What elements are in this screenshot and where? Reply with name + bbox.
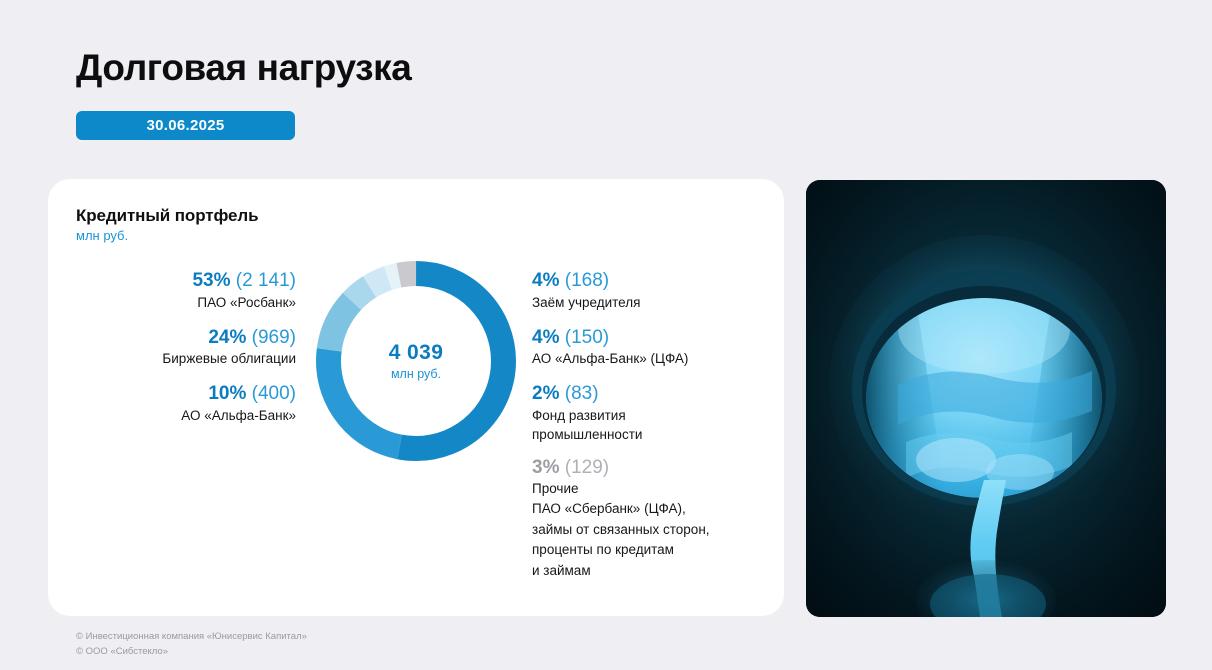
donut-chart: 4 039 млн руб. (316, 261, 516, 461)
legend-head: 2% (83) (532, 382, 772, 406)
legend-label-line2: промышленности (532, 426, 772, 444)
legend-item: 53% (2 141) ПАО «Росбанк» (48, 269, 296, 312)
legend-item: 24% (969) Биржевые облигации (48, 326, 296, 369)
card-title: Кредитный портфель (76, 206, 258, 226)
legend-percent: 4% (532, 270, 559, 291)
pool-highlight-a (916, 438, 996, 482)
legend-right: 4% (168) Заём учредителя 4% (150) АО «Ал… (532, 269, 772, 594)
legend-item: 10% (400) АО «Альфа-Банк» (48, 382, 296, 425)
legend-item: 4% (168) Заём учредителя (532, 269, 772, 312)
donut-chart-svg (316, 261, 516, 461)
legend-value: (2 141) (236, 270, 296, 291)
footer-line-2: © ООО «Сибстекло» (76, 645, 307, 660)
molten-glass-illustration (806, 180, 1166, 617)
footer-line-1: © Инвестиционная компания «Юнисервис Кап… (76, 630, 307, 645)
legend-label: АО «Альфа-Банк» (ЦФА) (532, 350, 772, 368)
legend-detail-line1: ПАО «Сбербанк» (ЦФА), (532, 499, 772, 519)
legend-percent: 3% (532, 457, 559, 478)
legend-head: 24% (969) (48, 326, 296, 350)
page-title: Долговая нагрузка (76, 48, 411, 89)
legend-value: (400) (252, 383, 296, 404)
legend-label: Биржевые облигации (48, 350, 296, 368)
legend-percent: 4% (532, 327, 559, 348)
legend-label: Прочие (532, 480, 772, 498)
legend-head: 3% (129) (532, 456, 772, 480)
legend-head: 10% (400) (48, 382, 296, 406)
legend-detail-line2: займы от связанных сторон, (532, 520, 772, 540)
legend-label: АО «Альфа-Банк» (48, 407, 296, 425)
date-badge: 30.06.2025 (76, 111, 295, 140)
legend-label: ПАО «Росбанк» (48, 294, 296, 312)
legend-head: 53% (2 141) (48, 269, 296, 293)
legend-detail-line3: проценты по кредитам (532, 540, 772, 560)
legend-percent: 24% (208, 327, 246, 348)
legend-left: 53% (2 141) ПАО «Росбанк» 24% (969) Бирж… (48, 269, 296, 439)
legend-value: (168) (565, 270, 609, 291)
legend-value: (150) (565, 327, 609, 348)
legend-head: 4% (168) (532, 269, 772, 293)
legend-value: (129) (565, 457, 609, 478)
legend-percent: 10% (208, 383, 246, 404)
card-subtitle: млн руб. (76, 228, 128, 243)
legend-percent: 2% (532, 383, 559, 404)
legend-detail-line4: и займам (532, 561, 772, 581)
legend-head: 4% (150) (532, 326, 772, 350)
legend-label-line1: Фонд развития (532, 407, 772, 425)
legend-item-other: 3% (129) Прочие ПАО «Сбербанк» (ЦФА), за… (532, 456, 772, 581)
credit-portfolio-card: Кредитный портфель млн руб. 53% (2 141) … (48, 179, 784, 616)
legend-percent: 53% (192, 270, 230, 291)
molten-glass-photo (806, 180, 1166, 617)
legend-item: 2% (83) Фонд развития промышленности (532, 382, 772, 443)
legend-value: (969) (252, 327, 296, 348)
legend-item: 4% (150) АО «Альфа-Банк» (ЦФА) (532, 326, 772, 369)
footer-credits: © Инвестиционная компания «Юнисервис Кап… (76, 630, 307, 659)
legend-label: Заём учредителя (532, 294, 772, 312)
legend-value: (83) (565, 383, 599, 404)
